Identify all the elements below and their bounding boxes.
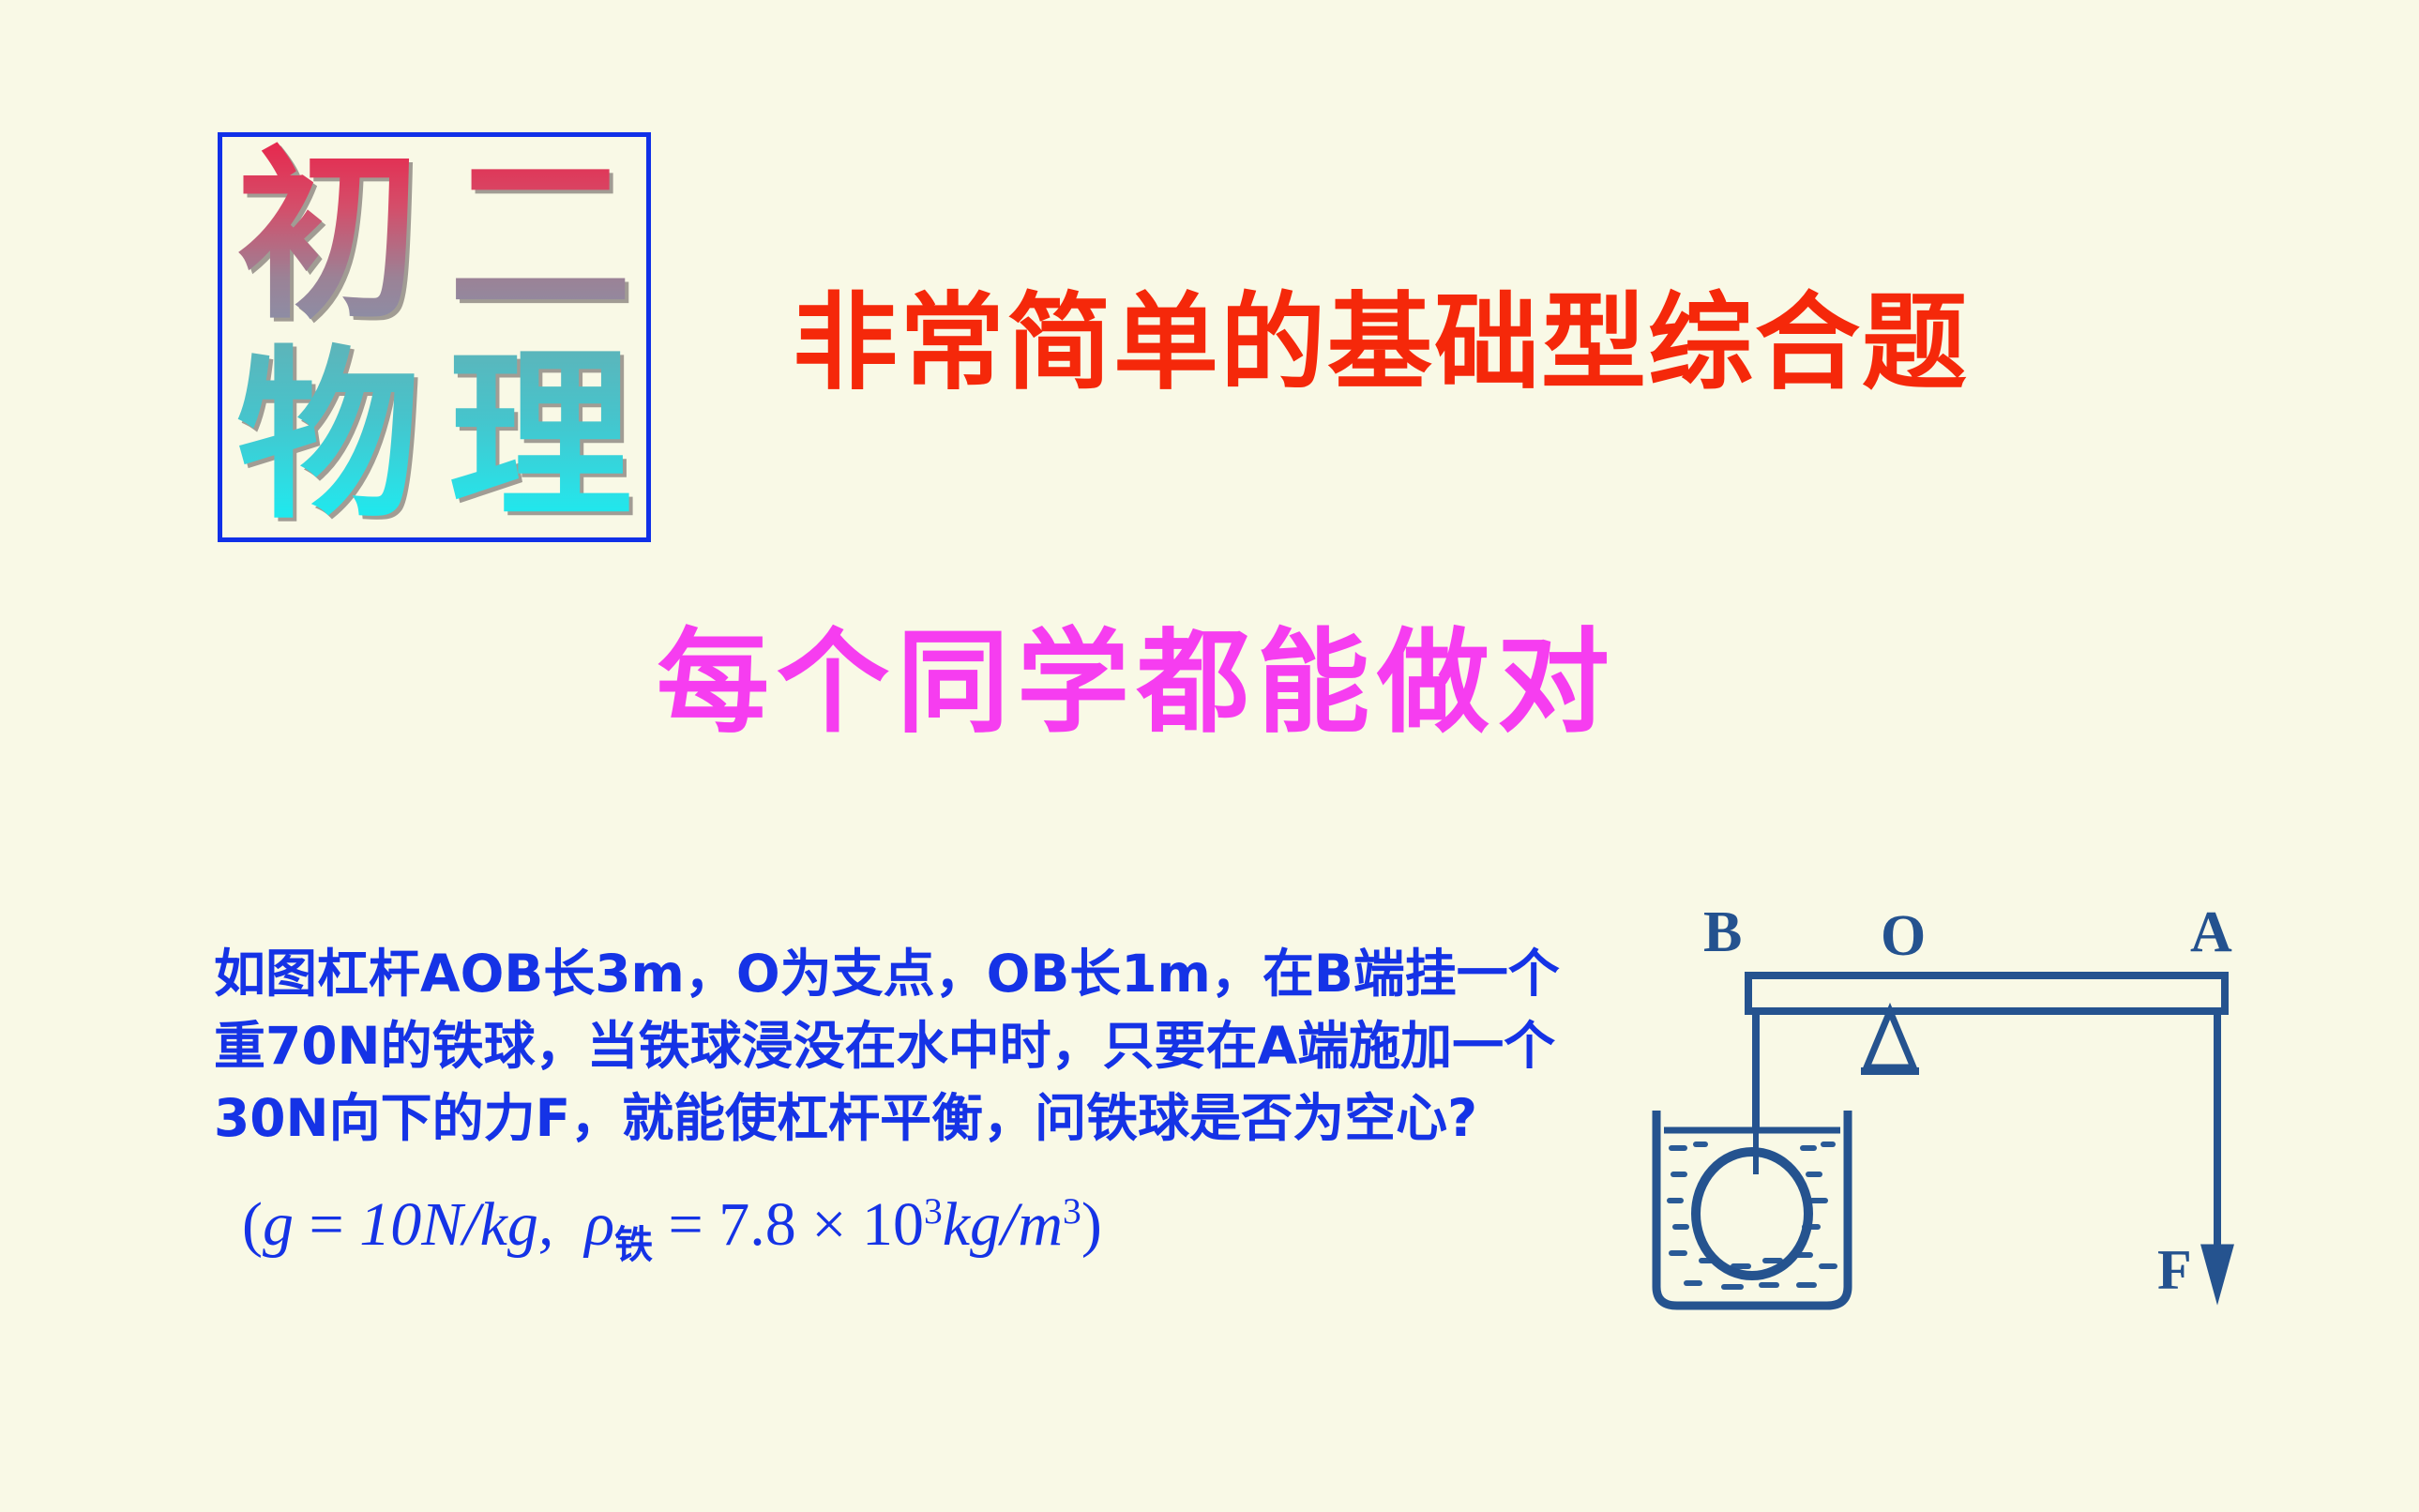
diagram-label-F: F (2157, 1239, 2192, 1301)
given-constants-formula: (g = 10N/kg, ρ铁 = 7.8 × 103kg/m3) (242, 1189, 1102, 1269)
logo-char-2: 二 (434, 137, 646, 338)
page-title: 非常简单的基础型综合题 (793, 258, 2200, 410)
formula-rho-mantissa: 7.8 (718, 1190, 796, 1259)
formula-g-value: 10N/kg, (359, 1190, 553, 1259)
formula-equals-1: = (309, 1190, 343, 1259)
hollow-iron-ball (1696, 1152, 1808, 1276)
formula-equals-2: = (668, 1190, 703, 1259)
formula-close-paren: ) (1081, 1190, 1102, 1259)
formula-times-sign: × (811, 1190, 846, 1259)
formula-rho-symbol: ρ (584, 1190, 614, 1259)
logo-char-4: 理 (434, 338, 646, 538)
diagram-label-A: A (2190, 900, 2232, 964)
downward-force-arrow (2202, 910, 2232, 1300)
lever-diagram: B O A F (1643, 893, 2300, 1343)
formula-open-paren: ( (242, 1190, 263, 1259)
page-subtitle: 每个同学都能做对 (657, 591, 1617, 754)
diagram-label-B: B (1703, 900, 1742, 964)
water-beaker (1656, 1111, 1848, 1306)
channel-logo-box: 初 二 物 理 (218, 132, 651, 542)
problem-line-2: 重70N的铁球，当铁球浸没在水中时，只要在A端施加一个 (214, 1010, 1696, 1082)
formula-rho-subscript: 铁 (614, 1222, 653, 1267)
formula-rho-exponent: 3 (924, 1190, 943, 1232)
formula-unit-exponent: 3 (1063, 1190, 1081, 1232)
lever-beam (1748, 975, 2225, 1011)
problem-statement: 如图杠杆AOB长3m，O为支点，OB长1m，在B端挂一个 重70N的铁球，当铁球… (214, 938, 1696, 1155)
problem-line-1: 如图杠杆AOB长3m，O为支点，OB长1m，在B端挂一个 (214, 938, 1696, 1010)
logo-char-3: 物 (222, 338, 434, 538)
triangle-fulcrum (1861, 1011, 1919, 1071)
logo-char-1: 初 (222, 137, 434, 338)
formula-rho-unit: kg/m (943, 1190, 1063, 1259)
formula-g-symbol: g (263, 1190, 294, 1259)
formula-rho-base: 10 (862, 1190, 924, 1259)
problem-line-3: 30N向下的力F，就能使杠杆平衡，问铁球是否为空心? (214, 1082, 1696, 1155)
diagram-label-O: O (1881, 904, 1926, 968)
